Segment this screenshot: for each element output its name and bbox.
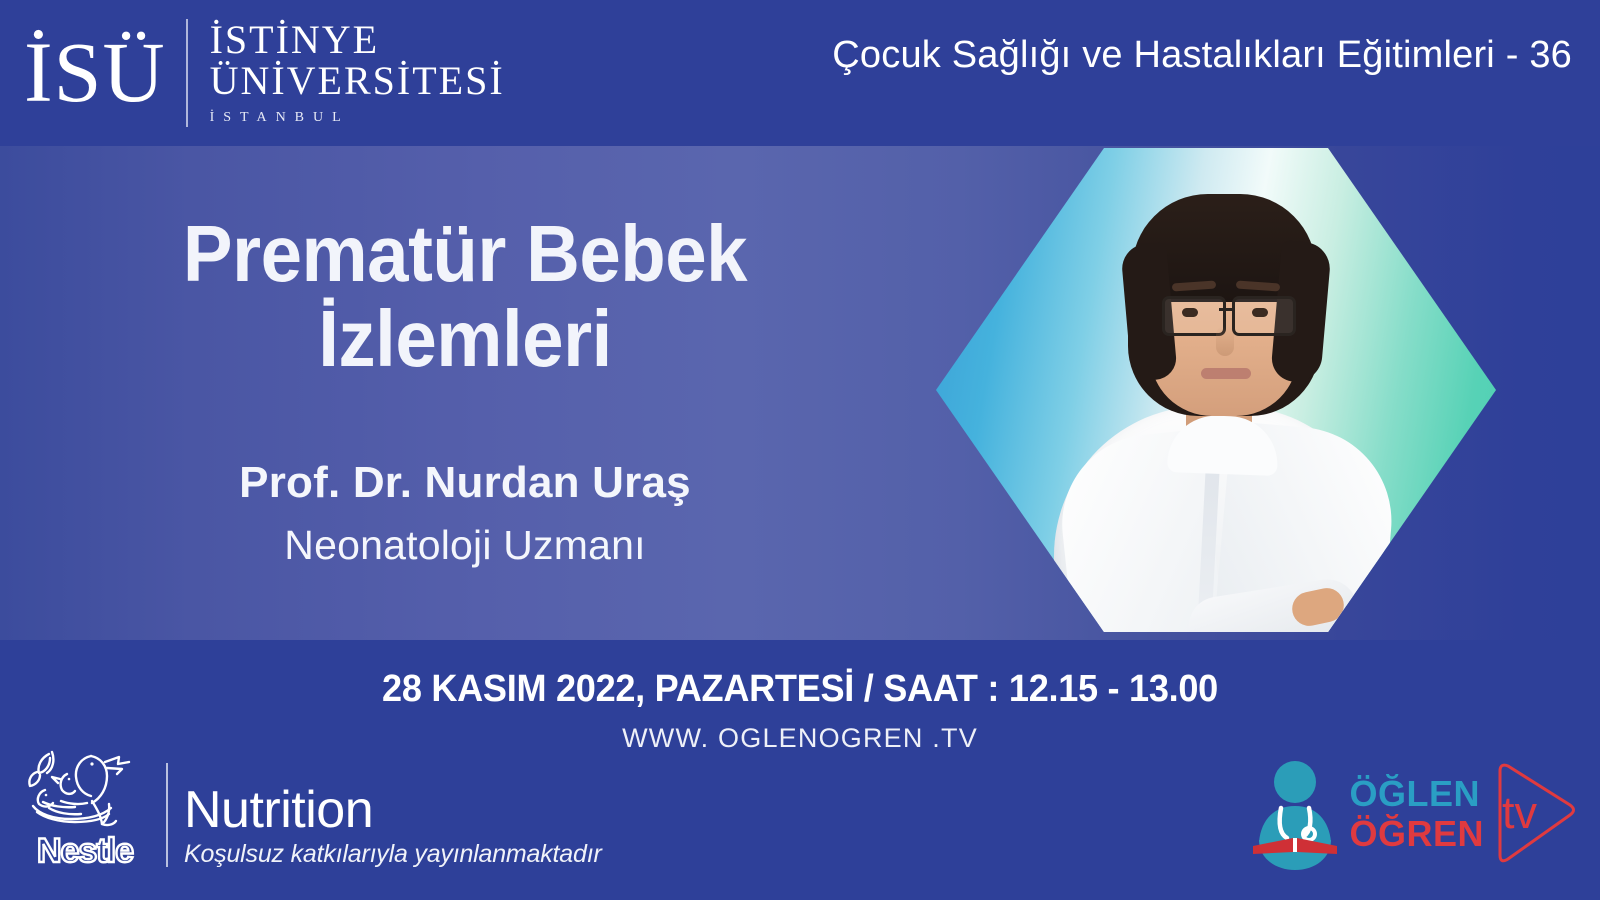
university-logo: İSÜ İSTİNYE ÜNİVERSİTESİ İSTANBUL (24, 19, 505, 127)
university-name-line2: ÜNİVERSİTESİ (210, 61, 505, 102)
event-datetime: 28 KASIM 2022, PAZARTESİ / SAAT : 12.15 … (40, 668, 1560, 711)
sponsor-logo: Nestle Nutrition Koşulsuz katkılarıyla y… (14, 746, 602, 871)
speaker-photo (936, 148, 1496, 632)
speaker-name: Prof. Dr. Nurdan Uraş (0, 458, 930, 508)
logo-divider (186, 19, 188, 127)
sponsor-divider (166, 763, 168, 867)
nestle-brand-mark: Nestle (14, 746, 156, 871)
university-name-line1: İSTİNYE (210, 20, 505, 61)
sponsor-product-line: Nutrition (184, 783, 602, 838)
bird-nest-icon (19, 746, 151, 830)
doctor-reading-icon (1247, 754, 1343, 874)
broadcaster-name-line1: ÖĞLEN (1349, 774, 1484, 814)
poster-header: İSÜ İSTİNYE ÜNİVERSİTESİ İSTANBUL Çocuk … (0, 0, 1600, 146)
university-wordmark: İSTİNYE ÜNİVERSİTESİ İSTANBUL (210, 20, 505, 126)
lecture-title: Prematür Bebek İzlemleri (33, 212, 898, 382)
tv-play-badge: tv (1486, 755, 1582, 873)
broadcaster-logo: ÖĞLEN ÖĞREN tv (1247, 746, 1582, 882)
webinar-poster: İSÜ İSTİNYE ÜNİVERSİTESİ İSTANBUL Çocuk … (0, 0, 1600, 900)
university-monogram: İSÜ (24, 34, 186, 111)
speaker-role: Neonatoloji Uzmanı (0, 522, 930, 569)
broadcaster-wordmark: ÖĞLEN ÖĞREN (1349, 774, 1484, 855)
sponsor-text: Nutrition Koşulsuz katkılarıyla yayınlan… (184, 783, 602, 871)
tv-label: tv (1502, 787, 1537, 839)
speaker-portrait-hexagon (936, 148, 1496, 632)
broadcaster-name-line2: ÖĞREN (1349, 814, 1484, 854)
sponsor-tagline: Koşulsuz katkılarıyla yayınlanmaktadır (184, 840, 602, 869)
university-city: İSTANBUL (210, 110, 505, 126)
series-title: Çocuk Sağlığı ve Hastalıkları Eğitimleri… (832, 34, 1572, 77)
nestle-wordmark: Nestle (37, 832, 133, 871)
